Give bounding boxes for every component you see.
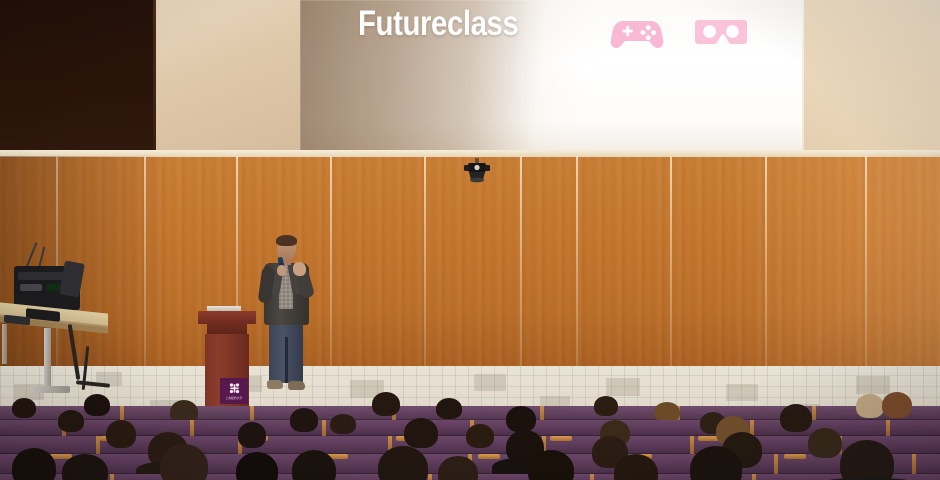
right-wall (800, 0, 940, 164)
projection-screen: Futureclass (300, 0, 802, 156)
audience-head (654, 402, 680, 422)
audience-head (882, 392, 912, 418)
lectern-top (198, 311, 256, 324)
lectern-neck (207, 324, 247, 334)
audience-head (238, 422, 266, 448)
audience-head (436, 398, 462, 419)
wall-highlight-right (720, 156, 940, 371)
slide-title: Futureclass (358, 4, 518, 44)
panel-seam (330, 156, 332, 371)
vr-headset-icon (694, 14, 748, 54)
presenter-hand (293, 262, 306, 276)
presenter-hand (277, 265, 286, 276)
audience-head (594, 396, 618, 416)
audience-head (12, 448, 56, 480)
slide-icon-row (610, 14, 770, 66)
panel-seam (576, 156, 578, 371)
presenter-shoe (267, 380, 283, 389)
seat-armrest (784, 454, 806, 459)
panel-seam (670, 156, 672, 371)
presenter-hair (276, 235, 297, 246)
lecture-hall-photo: Futureclass (0, 0, 940, 480)
presenter-leg-split (285, 337, 288, 383)
audience-head (372, 392, 400, 416)
audience-head (12, 398, 36, 418)
audience-head (84, 394, 110, 416)
audience-head (106, 420, 136, 448)
table-leg (44, 328, 51, 390)
audience-head (840, 440, 894, 480)
audience-seating (0, 392, 940, 480)
seat-armrest (550, 436, 572, 441)
presenter-shoe (288, 381, 305, 390)
av-control-table (0, 250, 120, 395)
audience-head (780, 404, 812, 432)
seat-armrest (478, 454, 500, 459)
audience-head (58, 410, 84, 432)
wall-camera-icon (462, 158, 492, 190)
audience-head (404, 418, 438, 448)
audience-head (808, 428, 842, 458)
gamepad-icon (610, 14, 664, 54)
panel-seam (424, 156, 426, 371)
equipment-case (4, 315, 30, 326)
audience-head (506, 406, 536, 432)
audience-head (330, 414, 356, 434)
av-device (20, 284, 42, 291)
audience-head (466, 424, 494, 448)
table-leg (2, 324, 7, 364)
audience-head (290, 408, 318, 432)
presenter (252, 237, 318, 397)
left-wall (156, 0, 304, 158)
panel-seam (520, 156, 522, 371)
dark-wall-panel (0, 0, 156, 158)
audience-head (160, 444, 208, 480)
cable (68, 324, 81, 380)
monitor-back (59, 261, 85, 298)
audience-head (856, 394, 884, 418)
